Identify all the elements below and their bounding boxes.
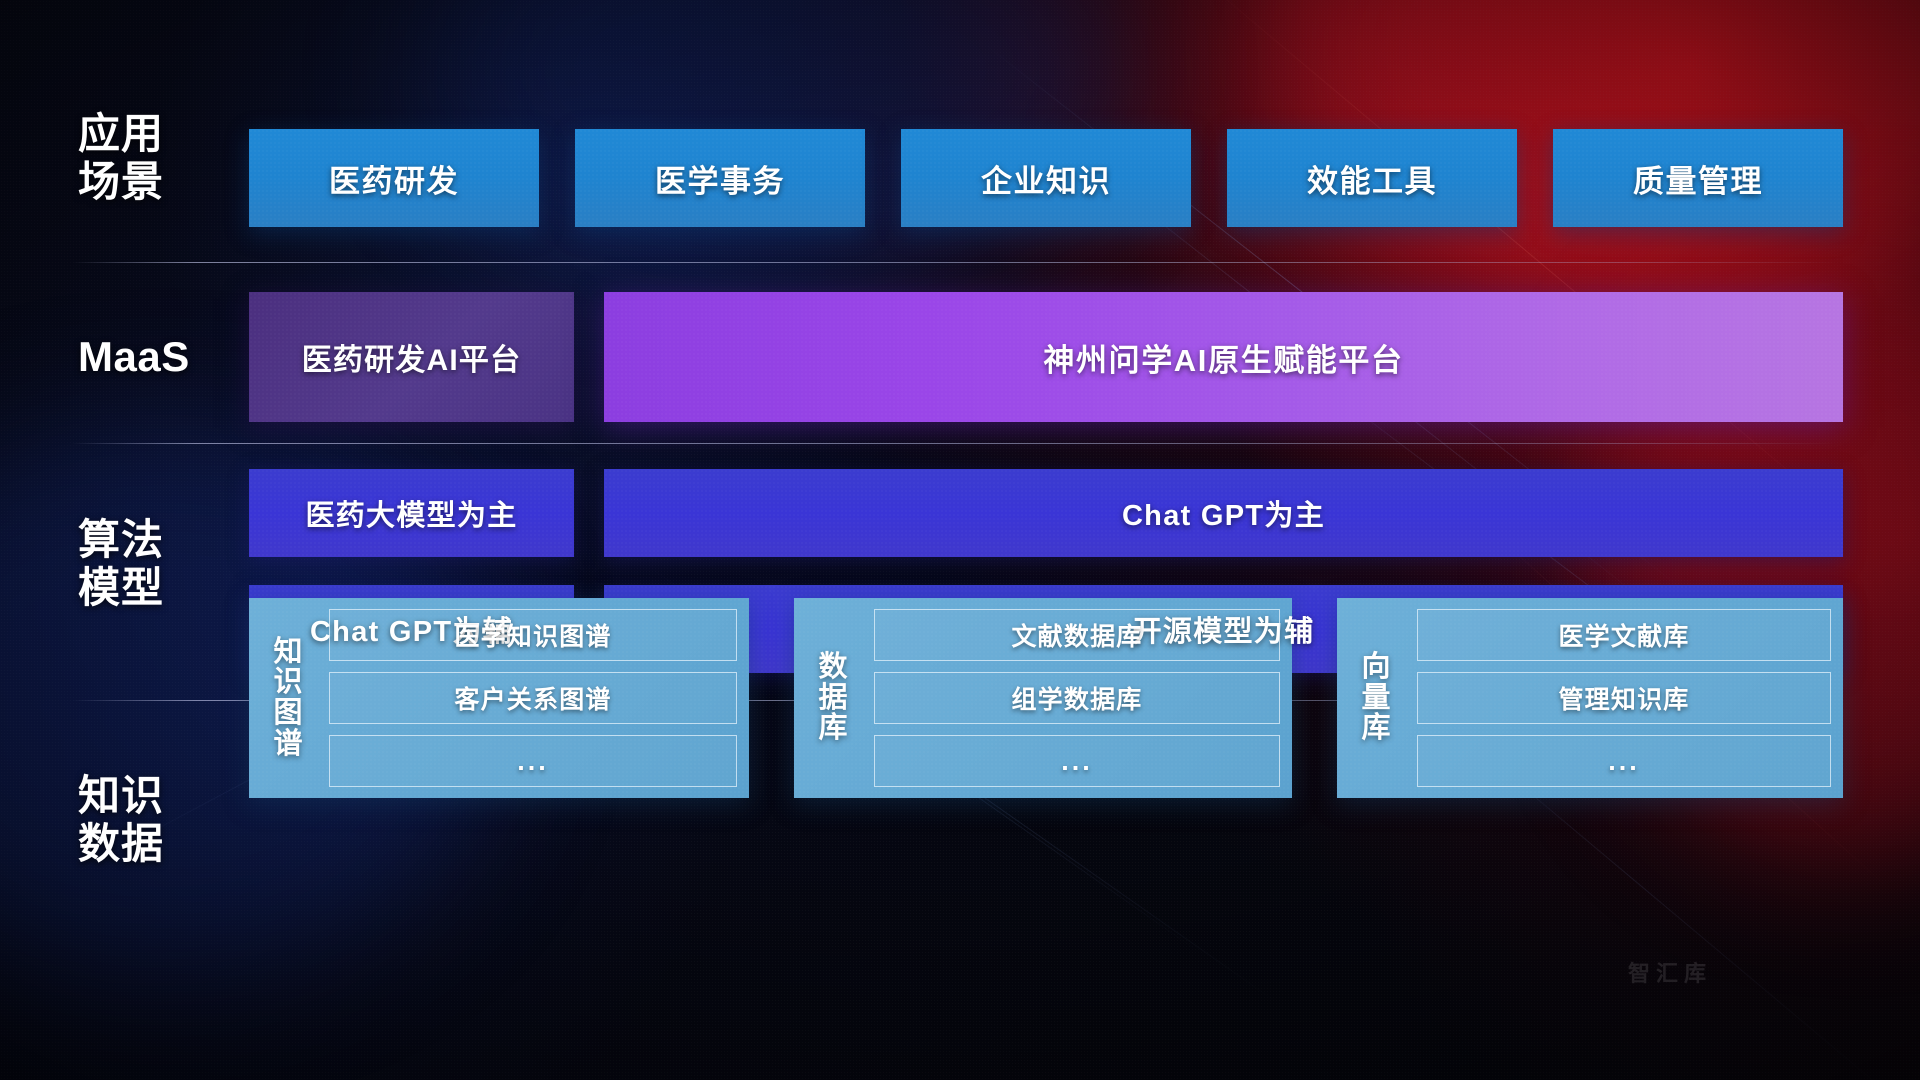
maas-platform-pharma-label: 医药研发AI平台 — [302, 335, 522, 379]
maas-platform-pharma[interactable]: 医药研发AI平台 — [249, 292, 574, 422]
row-label-line: 应用 — [78, 110, 228, 158]
watermark-text: 智汇库 — [1628, 956, 1712, 988]
row-label-algorithm-model: 算法 模型 — [78, 516, 228, 612]
row-label-line: 知识 — [78, 772, 228, 820]
title-char: 库 — [818, 713, 847, 744]
scenario-tile-label: 质量管理 — [1633, 156, 1763, 201]
maas-platform-shenzhou-label: 神州问学AI原生赋能平台 — [1043, 335, 1403, 380]
title-char: 据 — [818, 683, 847, 714]
title-char: 向 — [1361, 652, 1390, 683]
knowledge-group-database-title: 数 据 库 — [804, 609, 862, 787]
scenario-tile-5[interactable]: 质量管理 — [1553, 129, 1843, 227]
knowledge-item[interactable]: 客户关系图谱 — [329, 672, 737, 724]
knowledge-item[interactable]: 医学知识图谱 — [329, 609, 737, 661]
divider-2 — [72, 443, 1838, 444]
maas-platform-shenzhou[interactable]: 神州问学AI原生赋能平台 — [604, 292, 1843, 422]
title-char: 量 — [1361, 683, 1390, 714]
knowledge-group-vector-items: 医学文献库 管理知识库 ... — [1417, 609, 1831, 787]
row-label-line: MaaS — [78, 333, 228, 381]
knowledge-group-vector[interactable]: 向 量 库 医学文献库 管理知识库 ... — [1337, 598, 1843, 798]
scenario-tile-2[interactable]: 医学事务 — [575, 129, 865, 227]
knowledge-group-graph-items: 医学知识图谱 客户关系图谱 ... — [329, 609, 737, 787]
scenario-tile-label: 企业知识 — [981, 156, 1111, 201]
knowledge-group-vector-title: 向 量 库 — [1347, 609, 1405, 787]
knowledge-item-more[interactable]: ... — [329, 735, 737, 787]
title-char: 数 — [818, 652, 847, 683]
knowledge-group-graph-title: 知 识 图 谱 — [259, 609, 317, 787]
knowledge-item-more[interactable]: ... — [874, 735, 1280, 787]
row-label-application-scenarios: 应用 场景 — [78, 110, 228, 206]
title-char: 知 — [273, 637, 302, 668]
knowledge-item[interactable]: 管理知识库 — [1417, 672, 1831, 724]
model-tile-chatgpt-primary[interactable]: Chat GPT为主 — [604, 469, 1843, 557]
row-label-maas: MaaS — [78, 333, 228, 381]
scenario-tile-4[interactable]: 效能工具 — [1227, 129, 1517, 227]
title-char: 图 — [273, 698, 302, 729]
scenario-tile-label: 效能工具 — [1307, 156, 1437, 201]
row-label-line: 模型 — [78, 564, 228, 612]
knowledge-group-database-items: 文献数据库 组学数据库 ... — [874, 609, 1280, 787]
model-tile-label: Chat GPT为主 — [1122, 492, 1325, 534]
row-label-knowledge-data: 知识 数据 — [78, 772, 228, 868]
architecture-diagram: 应用 场景 医药研发 医学事务 企业知识 效能工具 质量管理 MaaS — [0, 0, 1920, 1080]
scenario-tile-label: 医学事务 — [655, 156, 785, 201]
knowledge-item[interactable]: 组学数据库 — [874, 672, 1280, 724]
model-tile-pharma-primary[interactable]: 医药大模型为主 — [249, 469, 574, 557]
divider-1 — [72, 262, 1838, 263]
scenario-tile-1[interactable]: 医药研发 — [249, 129, 539, 227]
row-label-line: 数据 — [78, 820, 228, 868]
row-label-line: 场景 — [78, 158, 228, 206]
knowledge-item[interactable]: 医学文献库 — [1417, 609, 1831, 661]
knowledge-item[interactable]: 文献数据库 — [874, 609, 1280, 661]
scenario-tile-label: 医药研发 — [329, 156, 459, 201]
title-char: 识 — [273, 667, 302, 698]
model-tile-label: 医药大模型为主 — [305, 492, 517, 534]
scenario-tile-3[interactable]: 企业知识 — [901, 129, 1191, 227]
knowledge-item-more[interactable]: ... — [1417, 735, 1831, 787]
row-label-line: 算法 — [78, 516, 228, 564]
knowledge-group-database[interactable]: 数 据 库 文献数据库 组学数据库 ... — [794, 598, 1292, 798]
title-char: 谱 — [273, 729, 302, 760]
title-char: 库 — [1361, 713, 1390, 744]
